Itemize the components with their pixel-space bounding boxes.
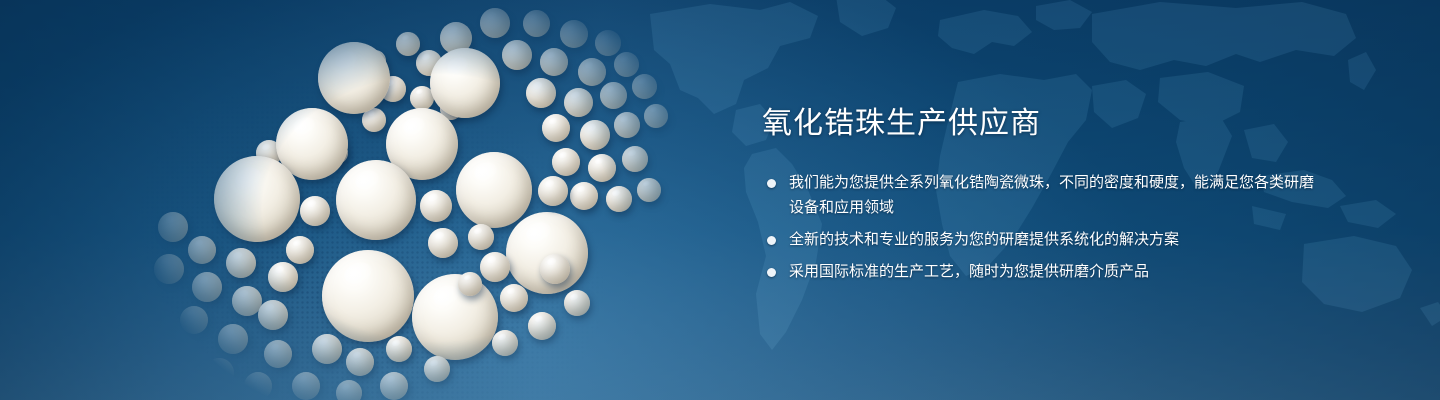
list-item: 全新的技术和专业的服务为您的研磨提供系统化的解决方案 bbox=[762, 227, 1322, 252]
bullet-dot-icon bbox=[767, 268, 776, 277]
bullet-dot-icon bbox=[767, 179, 776, 188]
list-item-label: 我们能为您提供全系列氧化锆陶瓷微珠，不同的密度和硬度，能满足您各类研磨设备和应用… bbox=[789, 170, 1322, 220]
feature-list: 我们能为您提供全系列氧化锆陶瓷微珠，不同的密度和硬度，能满足您各类研磨设备和应用… bbox=[762, 170, 1322, 284]
list-item-label: 全新的技术和专业的服务为您的研磨提供系统化的解决方案 bbox=[789, 227, 1322, 252]
banner-copy: 氧化锆珠生产供应商 我们能为您提供全系列氧化锆陶瓷微珠，不同的密度和硬度，能满足… bbox=[762, 104, 1322, 284]
list-item: 采用国际标准的生产工艺，随时为您提供研磨介质产品 bbox=[762, 259, 1322, 284]
list-item: 我们能为您提供全系列氧化锆陶瓷微珠，不同的密度和硬度，能满足您各类研磨设备和应用… bbox=[762, 170, 1322, 220]
list-item-label: 采用国际标准的生产工艺，随时为您提供研磨介质产品 bbox=[789, 259, 1322, 284]
bullet-dot-icon bbox=[767, 236, 776, 245]
hero-banner: 氧化锆珠生产供应商 我们能为您提供全系列氧化锆陶瓷微珠，不同的密度和硬度，能满足… bbox=[0, 0, 1440, 400]
page-title: 氧化锆珠生产供应商 bbox=[762, 104, 1322, 144]
bead-cluster bbox=[140, 0, 710, 400]
zirconia-beads-photo bbox=[140, 0, 710, 400]
